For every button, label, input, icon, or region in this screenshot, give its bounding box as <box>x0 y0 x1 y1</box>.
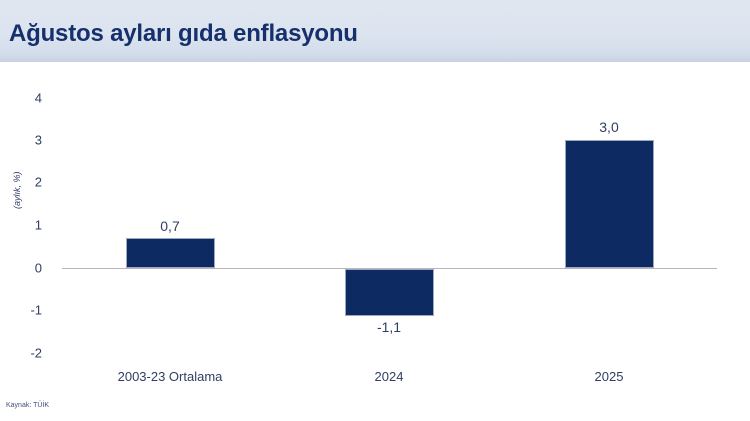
chart-slide: Ağustos ayları gıda enflasyonu (aylık, %… <box>0 0 750 421</box>
y-tick-2: 2 <box>0 175 42 190</box>
bar-2025 <box>565 140 654 268</box>
bar-value-2003-23-ortalama: 0,7 <box>160 218 179 234</box>
y-tick-4: 4 <box>0 91 42 106</box>
y-tick-neg2: -2 <box>0 346 42 361</box>
bar-2024 <box>345 269 434 316</box>
bar-value-2024: -1,1 <box>377 319 401 335</box>
category-label-2024: 2024 <box>375 369 404 384</box>
y-tick-neg1: -1 <box>0 303 42 318</box>
y-tick-3: 3 <box>0 133 42 148</box>
source-note: Kaynak: TÜİK <box>6 402 49 409</box>
y-tick-0: 0 <box>0 261 42 276</box>
category-label-2003-23-ortalama: 2003-23 Ortalama <box>118 369 223 384</box>
bar-value-2025: 3,0 <box>599 119 618 135</box>
plot-area: (aylık, %) 4 3 2 1 0 -1 -2 0,7 2003-23 O… <box>0 62 750 421</box>
bar-2003-23-ortalama <box>126 238 215 268</box>
page-title: Ağustos ayları gıda enflasyonu <box>9 20 358 48</box>
category-label-2025: 2025 <box>595 369 624 384</box>
y-tick-1: 1 <box>0 218 42 233</box>
